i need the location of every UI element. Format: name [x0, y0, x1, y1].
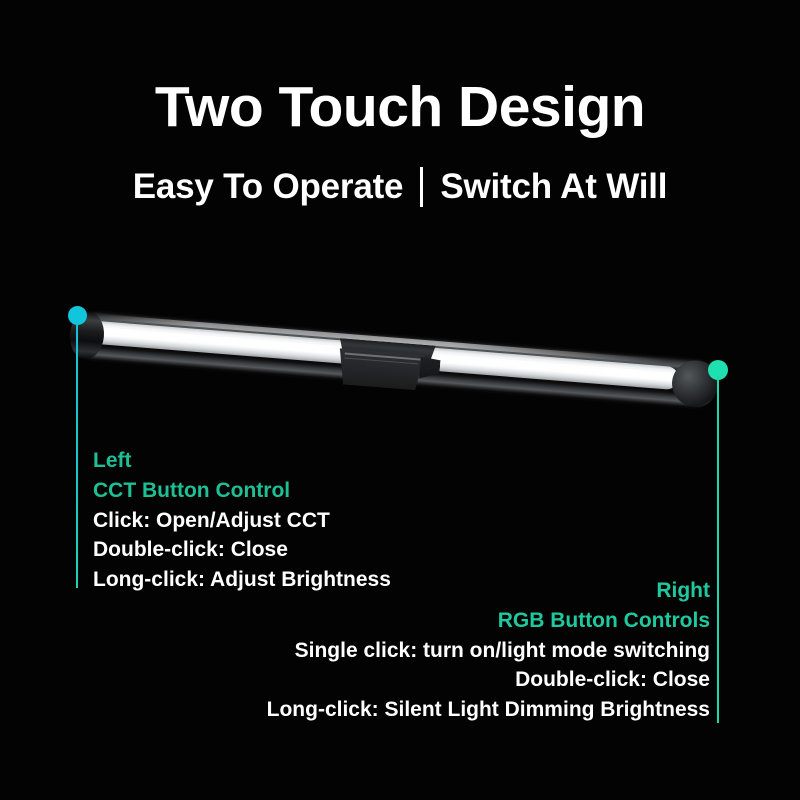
- right-callout-line: Single click: turn on/light mode switchi…: [267, 636, 710, 666]
- right-callout-line: Long-click: Silent Light Dimming Brightn…: [267, 695, 710, 725]
- subtitle-row: Easy To Operate Switch At Will: [0, 167, 800, 207]
- right-callout-line: Double-click: Close: [267, 665, 710, 695]
- subtitle-divider: [420, 167, 423, 207]
- left-callout-line: Double-click: Close: [93, 535, 391, 565]
- right-callout-text-block: Right RGB Button Controls Single click: …: [267, 576, 710, 725]
- left-callout-subheading: CCT Button Control: [93, 476, 391, 506]
- page-title: Two Touch Design: [0, 78, 800, 138]
- left-callout-line: Click: Open/Adjust CCT: [93, 506, 391, 536]
- right-callout-subheading: RGB Button Controls: [267, 606, 710, 636]
- center-mount-bracket: [334, 338, 441, 392]
- left-callout-leader-line: [76, 322, 78, 588]
- left-callout-text-block: Left CCT Button Control Click: Open/Adju…: [93, 446, 391, 595]
- infographic-canvas: Two Touch Design Easy To Operate Switch …: [0, 0, 800, 800]
- product-lamp-image: [72, 296, 724, 396]
- left-callout-heading: Left: [93, 446, 391, 476]
- subtitle-right-text: Switch At Will: [440, 167, 667, 207]
- right-callout-leader-line: [717, 376, 719, 723]
- mount-arm: [419, 357, 441, 381]
- subtitle-left-text: Easy To Operate: [133, 167, 404, 207]
- right-callout-heading: Right: [267, 576, 710, 606]
